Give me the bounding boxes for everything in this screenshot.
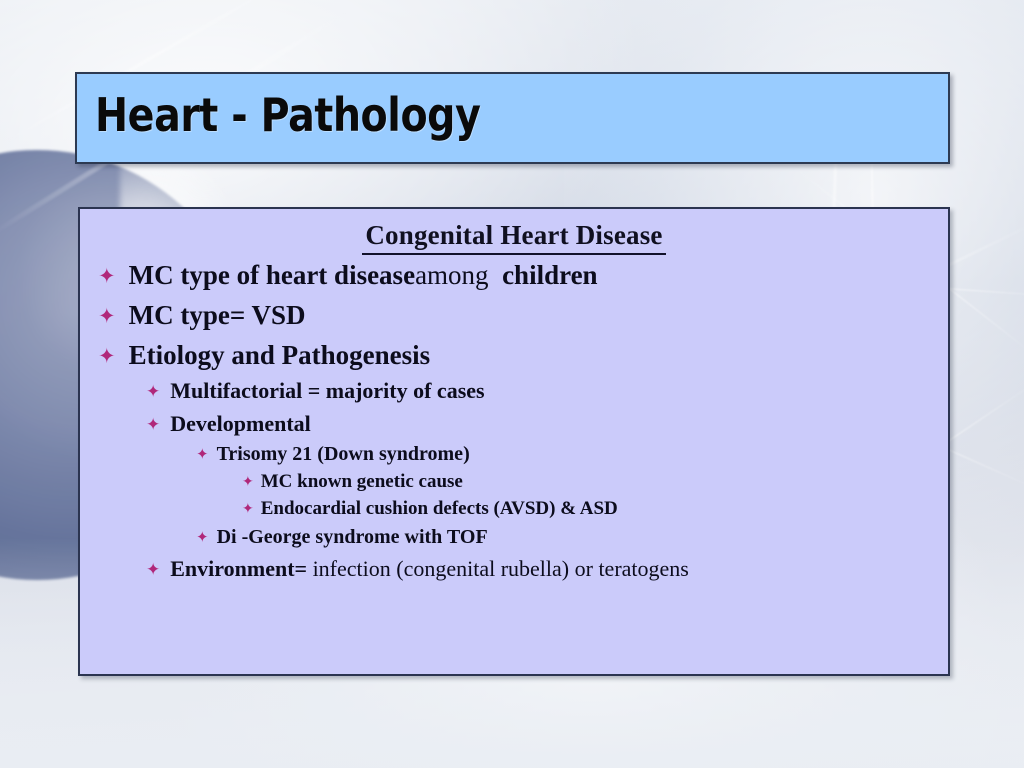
list-item: ✦ Environment= infection (congenital rub… xyxy=(146,556,948,582)
list-item: ✦ Multifactorial = majority of cases xyxy=(146,378,948,404)
list-item: ✦ MC type= VSD xyxy=(98,300,948,331)
list-item-text: Endocardial cushion defects (AVSD) & ASD xyxy=(261,498,618,520)
list-item-text-bold-2: children xyxy=(502,260,598,290)
list-item-text: MC type= VSD xyxy=(129,300,306,331)
list-item-text: Multifactorial = majority of cases xyxy=(170,378,484,404)
four-pointed-star-bullet-icon: ✦ xyxy=(146,384,160,401)
title-banner: Heart - Pathology xyxy=(75,72,950,164)
four-pointed-star-bullet-icon: ✦ xyxy=(146,562,160,579)
list-item-text: MC known genetic cause xyxy=(261,471,463,493)
four-pointed-star-bullet-icon: ✦ xyxy=(98,346,116,367)
four-pointed-star-bullet-icon: ✦ xyxy=(242,475,254,489)
list-item: ✦ MC known genetic cause xyxy=(242,471,948,493)
list-item-text: MC type of heart diseaseamong children xyxy=(129,260,598,291)
list-item-text: Trisomy 21 (Down syndrome) xyxy=(217,443,470,466)
list-item-text-regular: among xyxy=(415,260,489,290)
four-pointed-star-bullet-icon: ✦ xyxy=(146,417,160,434)
list-item: ✦ MC type of heart diseaseamong children xyxy=(98,260,948,291)
slide-title: Heart - Pathology xyxy=(95,82,480,148)
four-pointed-star-bullet-icon: ✦ xyxy=(196,530,209,545)
list-item-text: Environment= infection (congenital rubel… xyxy=(170,556,689,582)
list-item-text-bold: MC type of heart disease xyxy=(129,260,415,290)
list-item-text-bold: Environment= xyxy=(170,556,307,581)
four-pointed-star-bullet-icon: ✦ xyxy=(242,502,254,516)
slide: Heart - Pathology Congenital Heart Disea… xyxy=(0,0,1024,768)
four-pointed-star-bullet-icon: ✦ xyxy=(98,266,116,287)
list-item: ✦ Developmental xyxy=(146,411,948,437)
list-item: ✦ Di -George syndrome with TOF xyxy=(196,526,948,549)
four-pointed-star-bullet-icon: ✦ xyxy=(196,447,209,462)
bullet-list: ✦ MC type of heart diseaseamong children… xyxy=(80,260,948,582)
list-item: ✦ Trisomy 21 (Down syndrome) xyxy=(196,443,948,466)
list-item-text-regular: infection (congenital rubella) or terato… xyxy=(313,556,689,581)
list-item: ✦ Endocardial cushion defects (AVSD) & A… xyxy=(242,498,948,520)
section-heading-text: Congenital Heart Disease xyxy=(362,220,665,255)
list-item-text: Di -George syndrome with TOF xyxy=(217,526,488,549)
list-item: ✦ Etiology and Pathogenesis xyxy=(98,340,948,371)
list-item-text: Etiology and Pathogenesis xyxy=(129,340,431,371)
section-heading: Congenital Heart Disease xyxy=(80,220,948,251)
list-item-text: Developmental xyxy=(170,411,311,437)
four-pointed-star-bullet-icon: ✦ xyxy=(98,306,116,327)
content-panel: Congenital Heart Disease ✦ MC type of he… xyxy=(78,207,950,676)
